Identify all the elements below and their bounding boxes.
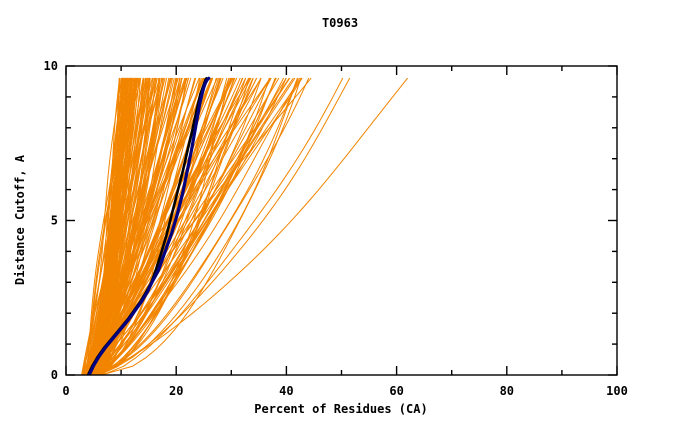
x-tick-label: 40 [279,384,293,398]
y-axis-label: Distance Cutoff, A [13,154,27,285]
y-tick-label: 5 [51,214,58,228]
x-tick-label: 80 [500,384,514,398]
x-axis-label: Percent of Residues (CA) [254,402,427,416]
chart-figure: T0963 020406080100 0510 Percent of Resid… [0,0,680,440]
x-tick-label: 20 [169,384,183,398]
x-tick-label: 60 [389,384,403,398]
x-tick-label: 100 [606,384,628,398]
chart-title: T0963 [322,16,358,30]
y-tick-label: 10 [44,59,58,73]
y-tick-label: 0 [51,368,58,382]
x-tick-label: 0 [62,384,69,398]
